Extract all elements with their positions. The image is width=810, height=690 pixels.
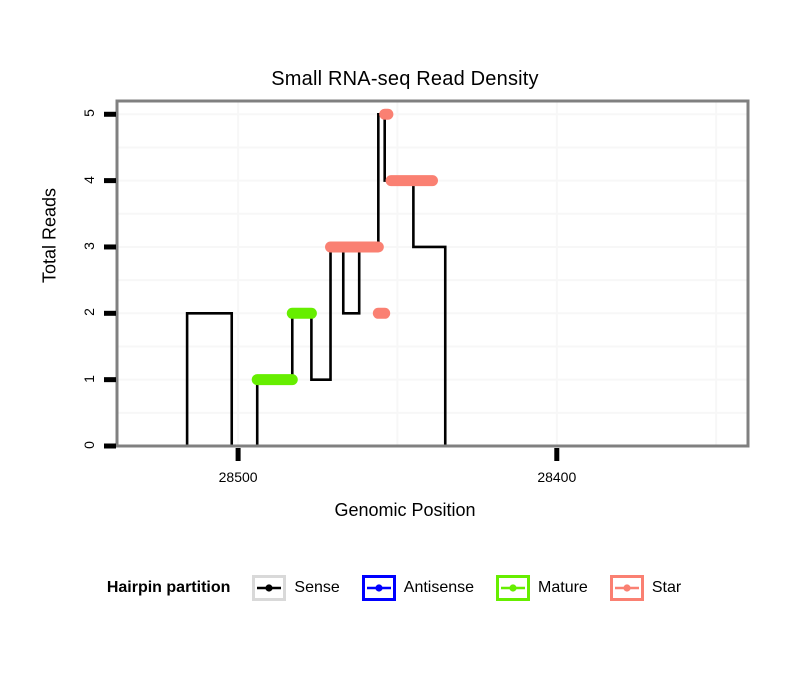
y-tick-label: 4 xyxy=(81,170,97,190)
legend-swatch-sense xyxy=(252,575,286,601)
legend-label-mature: Mature xyxy=(538,579,588,597)
chart-legend: Hairpin partition SenseAntisenseMatureSt… xyxy=(0,575,810,601)
legend-entry-sense[interactable]: Sense xyxy=(252,575,353,601)
legend-swatch-star xyxy=(610,575,644,601)
legend-swatch-mature xyxy=(496,575,530,601)
legend-swatch-antisense xyxy=(362,575,396,601)
y-tick-label: 0 xyxy=(81,435,97,455)
legend-entry-mature[interactable]: Mature xyxy=(496,575,602,601)
y-tick-label: 2 xyxy=(81,302,97,322)
legend-entry-antisense[interactable]: Antisense xyxy=(362,575,488,601)
legend-entry-star[interactable]: Star xyxy=(610,575,695,601)
legend-label-star: Star xyxy=(652,579,681,597)
x-tick-label: 28400 xyxy=(517,469,597,485)
x-tick-label: 28500 xyxy=(198,469,278,485)
plot-background xyxy=(117,101,748,446)
legend-key-glyph xyxy=(366,578,392,598)
legend-entry-list: SenseAntisenseMatureStar xyxy=(252,575,703,601)
y-tick-label: 1 xyxy=(81,369,97,389)
legend-key-glyph xyxy=(256,578,282,598)
y-tick-label: 5 xyxy=(81,103,97,123)
legend-key-glyph xyxy=(614,578,640,598)
legend-label-antisense: Antisense xyxy=(404,579,474,597)
chart-container: Small RNA-seq Read Density Total Reads G… xyxy=(0,0,810,690)
legend-key-glyph xyxy=(500,578,526,598)
y-tick-label: 3 xyxy=(81,236,97,256)
legend-label-sense: Sense xyxy=(294,579,339,597)
legend-title: Hairpin partition xyxy=(107,579,231,597)
